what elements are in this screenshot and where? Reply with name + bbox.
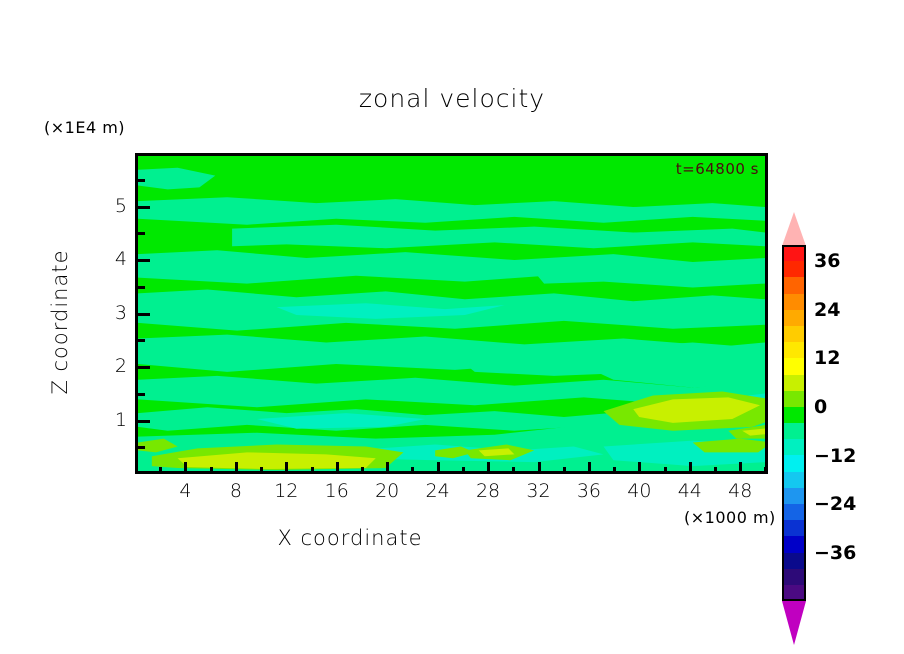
x-tick-minor: [714, 467, 717, 474]
colorbar-band: [782, 472, 806, 488]
x-tick-major: [487, 462, 490, 474]
y-tick-minor: [138, 446, 145, 449]
colorbar-band: [782, 585, 806, 601]
y-tick-label: 1: [87, 409, 127, 431]
y-tick-minor: [138, 286, 145, 289]
colorbar-tick-label: −24: [814, 493, 856, 515]
y-tick-label: 2: [87, 355, 127, 377]
x-tick-minor: [260, 467, 263, 474]
y-tick-major: [138, 420, 150, 423]
colorbar-over-arrow: [782, 212, 806, 246]
colorbar-band: [782, 261, 806, 277]
y-tick-major: [138, 206, 150, 209]
colorbar-band: [782, 326, 806, 342]
y-tick-major: [138, 366, 150, 369]
x-tick-label: 48: [710, 480, 770, 502]
colorbar-tick-label: 12: [814, 347, 840, 369]
x-tick-minor: [462, 467, 465, 474]
x-tick-major: [538, 462, 541, 474]
y-tick-minor: [138, 393, 145, 396]
x-tick-major: [184, 462, 187, 474]
x-tick-minor: [210, 467, 213, 474]
colorbar-band: [782, 294, 806, 310]
colorbar-tick-label: −36: [814, 542, 856, 564]
x-tick-minor: [361, 467, 364, 474]
colorbar-band: [782, 358, 806, 374]
y-tick-major: [138, 259, 150, 262]
y-axis-title: Z coordinate: [48, 202, 72, 442]
colorbar-band: [782, 245, 806, 261]
x-axis-unit-label: (×1000 m): [684, 508, 776, 527]
x-tick-major: [638, 462, 641, 474]
colorbar-tick-label: 36: [814, 250, 840, 272]
colorbar-band: [782, 391, 806, 407]
x-tick-minor: [664, 467, 667, 474]
y-tick-label: 3: [87, 302, 127, 324]
colorbar-band: [782, 277, 806, 293]
colorbar: [782, 245, 806, 601]
x-tick-major: [739, 462, 742, 474]
colorbar-band: [782, 488, 806, 504]
y-tick-major: [138, 313, 150, 316]
x-tick-minor: [563, 467, 566, 474]
colorbar-band: [782, 504, 806, 520]
x-tick-major: [336, 462, 339, 474]
contour-plot-area: t=64800 s: [135, 153, 768, 474]
y-tick-minor: [138, 179, 145, 182]
x-tick-minor: [512, 467, 515, 474]
colorbar-band: [782, 520, 806, 536]
colorbar-band: [782, 375, 806, 391]
colorbar-band: [782, 310, 806, 326]
x-axis-title: X coordinate: [0, 526, 700, 550]
y-tick-label: 4: [87, 248, 127, 270]
time-annotation: t=64800 s: [676, 160, 759, 178]
x-tick-major: [235, 462, 238, 474]
x-tick-major: [437, 462, 440, 474]
x-tick-major: [386, 462, 389, 474]
colorbar-band: [782, 342, 806, 358]
y-axis-unit-label: (×1E4 m): [44, 118, 125, 137]
colorbar-tick-label: 0: [814, 396, 827, 418]
colorbar-band: [782, 423, 806, 439]
colorbar-band: [782, 439, 806, 455]
colorbar-band: [782, 553, 806, 569]
colorbar-under-arrow: [782, 601, 806, 645]
y-tick-minor: [138, 339, 145, 342]
x-tick-minor: [411, 467, 414, 474]
colorbar-band: [782, 455, 806, 471]
x-tick-major: [689, 462, 692, 474]
x-tick-minor: [311, 467, 314, 474]
colorbar-tick-label: −12: [814, 445, 856, 467]
colorbar-band: [782, 569, 806, 585]
contour-field: [138, 156, 765, 471]
colorbar-tick-label: 24: [814, 299, 840, 321]
y-tick-minor: [138, 232, 145, 235]
x-tick-major: [285, 462, 288, 474]
colorbar-band: [782, 407, 806, 423]
x-tick-minor: [613, 467, 616, 474]
x-tick-major: [588, 462, 591, 474]
x-tick-minor: [159, 467, 162, 474]
colorbar-band: [782, 536, 806, 552]
x-tick-minor: [764, 467, 767, 474]
y-tick-label: 5: [87, 195, 127, 217]
chart-title: zonal velocity: [0, 84, 904, 113]
